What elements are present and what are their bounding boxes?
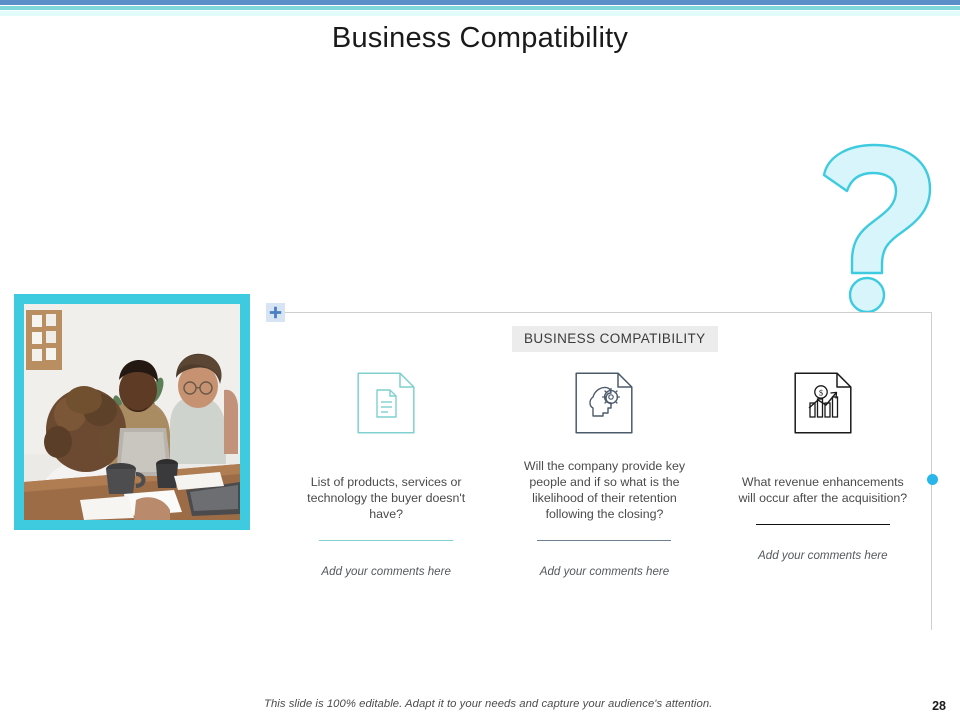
- document-file-icon: [357, 372, 415, 434]
- svg-text:$: $: [819, 388, 823, 397]
- footer-note: This slide is 100% editable. Adapt it to…: [264, 698, 712, 710]
- page-title: Business Compatibility: [0, 22, 960, 55]
- column-key-people: Will the company provide key people and …: [495, 372, 713, 612]
- column-comment-placeholder[interactable]: Add your comments here: [748, 549, 898, 563]
- meeting-photo: [24, 304, 240, 520]
- page-number: 28: [932, 699, 946, 713]
- photo-frame: [14, 294, 250, 530]
- column-comment-placeholder[interactable]: Add your comments here: [311, 565, 461, 579]
- column-question-text: What revenue enhancements will occur aft…: [738, 474, 908, 506]
- plus-icon[interactable]: [266, 303, 285, 322]
- column-divider: [756, 524, 890, 525]
- top-stripe-pale: [0, 11, 960, 16]
- section-label-chip: BUSINESS COMPATIBILITY: [512, 326, 718, 352]
- compatibility-columns: List of products, services or technology…: [277, 372, 932, 612]
- column-question-text: Will the company provide key people and …: [519, 458, 689, 522]
- column-divider: [537, 540, 671, 541]
- top-stripe-cyan: [0, 6, 960, 10]
- head-gear-icon: [575, 372, 633, 434]
- column-products-services: List of products, services or technology…: [277, 372, 495, 612]
- revenue-growth-chart-icon: $: [794, 372, 852, 434]
- column-divider: [319, 540, 453, 541]
- column-revenue-enhancements: $ What revenue enhancements will occur a…: [714, 372, 932, 612]
- column-comment-placeholder[interactable]: Add your comments here: [529, 565, 679, 579]
- question-mark-icon: [812, 143, 936, 313]
- column-question-text: List of products, services or technology…: [301, 474, 471, 522]
- top-stripe-blue: [0, 0, 960, 5]
